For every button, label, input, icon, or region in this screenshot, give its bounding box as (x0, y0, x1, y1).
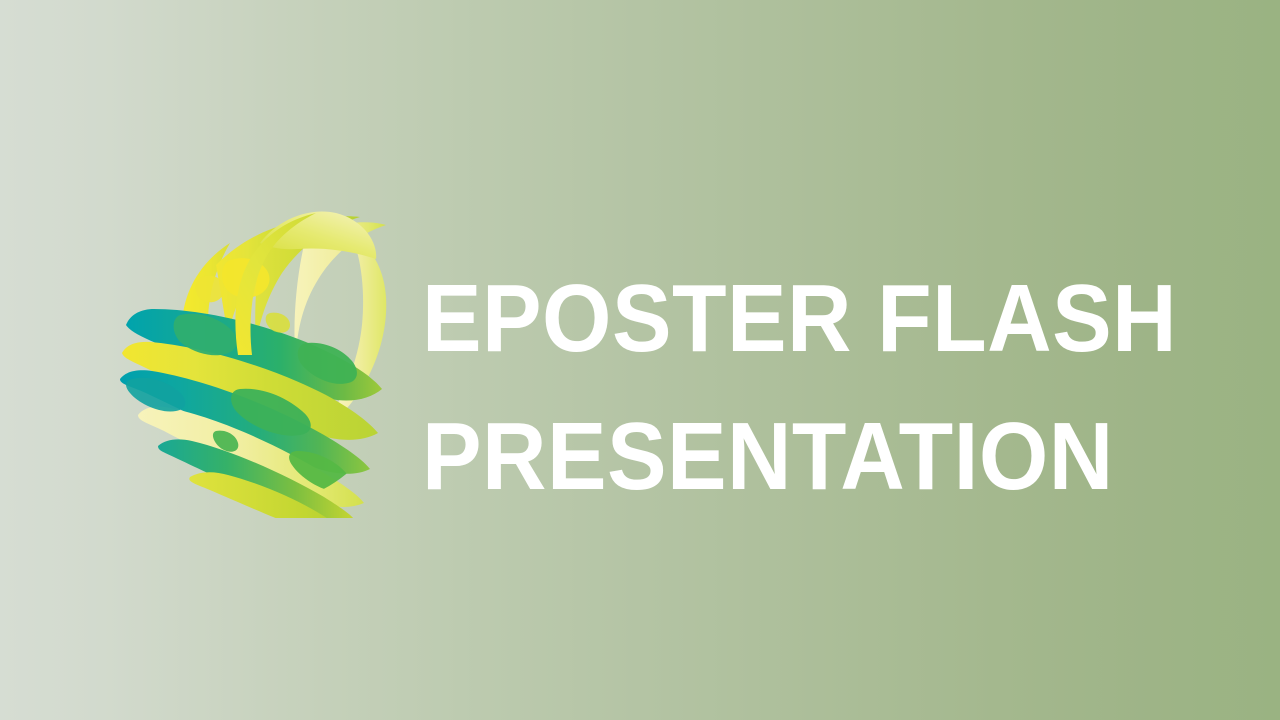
presentation-slide: EPOSTER FLASH PRESENTATION (0, 0, 1280, 720)
logo-svg (120, 203, 400, 518)
ribbon-globe-leaf-logo (120, 203, 400, 518)
slide-title: EPOSTER FLASH PRESENTATION (422, 250, 1222, 526)
title-line-1: EPOSTER FLASH (422, 250, 1166, 388)
title-line-2: PRESENTATION (422, 388, 1166, 526)
